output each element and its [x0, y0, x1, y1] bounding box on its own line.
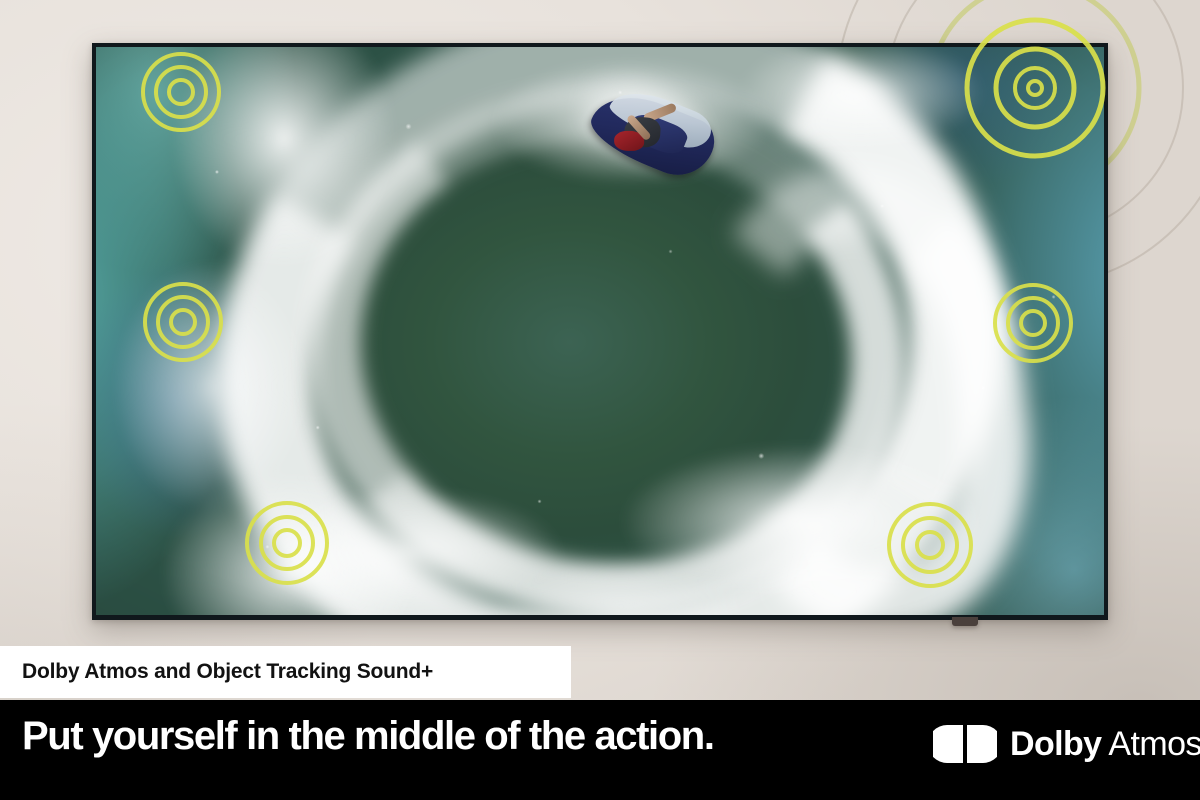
dolby-word-bold: Dolby: [1010, 725, 1101, 763]
headline: Put yourself in the middle of the action…: [22, 714, 714, 759]
caption-bar: Dolby Atmos and Object Tracking Sound+: [0, 646, 571, 698]
tv-screen: [96, 47, 1104, 615]
dolby-word-light: Atmos: [1101, 725, 1200, 763]
screen-vignette: [96, 47, 1104, 615]
tv-sensor-nub: [952, 617, 978, 626]
banner-stage: Dolby Atmos and Object Tracking Sound+ P…: [0, 0, 1200, 800]
dolby-double-d-icon: [933, 724, 997, 764]
dolby-atmos-logo: Dolby Atmos: [933, 722, 1200, 766]
television: [92, 43, 1108, 620]
caption-label: Dolby Atmos and Object Tracking Sound+: [0, 660, 433, 684]
dolby-atmos-wordmark: Dolby Atmos: [1010, 727, 1200, 761]
